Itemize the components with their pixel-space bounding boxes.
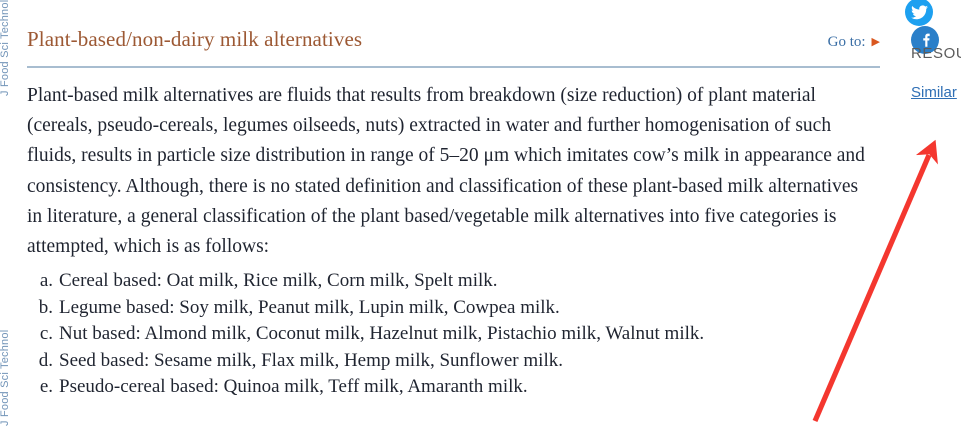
section-paragraph: Plant-based milk alternatives are fluids… <box>27 81 875 262</box>
section-divider <box>27 66 880 68</box>
twitter-icon[interactable] <box>905 0 933 26</box>
list-item-text: Pseudo-cereal based: Quinoa milk, Teff m… <box>59 376 528 397</box>
category-list: a.Cereal based: Oat milk, Rice milk, Cor… <box>27 268 704 401</box>
page-title: Plant-based/non-dairy milk alternatives <box>27 27 362 60</box>
section-header: Plant-based/non-dairy milk alternatives … <box>27 27 880 60</box>
list-item: b.Legume based: Soy milk, Peanut milk, L… <box>27 295 704 322</box>
list-item-text: Nut based: Almond milk, Coconut milk, Ha… <box>59 323 704 344</box>
list-item-marker: e. <box>27 374 59 401</box>
list-item-text: Seed based: Sesame milk, Flax milk, Hemp… <box>59 350 563 371</box>
list-item: c.Nut based: Almond milk, Coconut milk, … <box>27 321 704 348</box>
list-item: e.Pseudo-cereal based: Quinoa milk, Teff… <box>27 374 704 401</box>
social-share-row <box>905 0 961 28</box>
article-section: Plant-based/non-dairy milk alternatives … <box>0 0 882 426</box>
list-item-marker: b. <box>27 295 59 322</box>
similar-articles-link[interactable]: Similar <box>911 84 957 101</box>
list-item-text: Cereal based: Oat milk, Rice milk, Corn … <box>59 270 498 291</box>
list-item-marker: d. <box>27 348 59 375</box>
list-item: a.Cereal based: Oat milk, Rice milk, Cor… <box>27 268 704 295</box>
list-item-marker: c. <box>27 321 59 348</box>
list-item-marker: a. <box>27 268 59 295</box>
caret-right-icon[interactable]: ▶ <box>872 35 880 48</box>
goto-link[interactable]: Go to: <box>828 34 866 50</box>
list-item-text: Legume based: Soy milk, Peanut milk, Lup… <box>59 297 560 318</box>
goto-control[interactable]: Go to:▶ <box>828 34 880 51</box>
list-item: d.Seed based: Sesame milk, Flax milk, He… <box>27 348 704 375</box>
right-sidebar: RESOU Similar <box>900 0 961 426</box>
resources-heading: RESOU <box>911 45 961 62</box>
